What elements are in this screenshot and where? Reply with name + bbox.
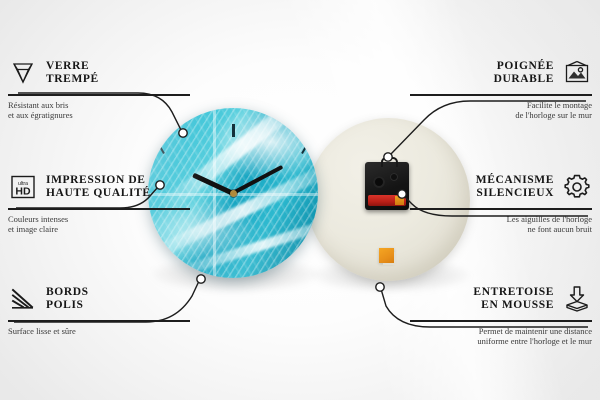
feature-title: VERRE TREMPÉ [46,60,99,86]
feature-header: POIGNÉE DURABLE [410,56,592,90]
feature-title: POIGNÉE DURABLE [494,60,554,86]
feature-description: Couleurs intenses et image claire [8,214,190,235]
feature-header: MÉCANISME SILENCIEUX [410,170,592,204]
divider [410,208,592,210]
feature-title: MÉCANISME SILENCIEUX [476,174,554,200]
feature-header: ENTRETOISE EN MOUSSE [410,282,592,316]
hanging-frame-icon [562,58,592,88]
divider [8,208,190,210]
battery [368,195,406,206]
feature-header: ultra HD IMPRESSION DE HAUTE QUALITÉ [8,170,190,204]
feature-description: Permet de maintenir une distance uniform… [410,326,592,347]
svg-text:HD: HD [15,186,31,198]
feature-impression-haute-qualite[interactable]: ultra HD IMPRESSION DE HAUTE QUALITÉ Cou… [8,170,190,235]
feature-bords-polis[interactable]: BORDS POLIS Surface lisse et sûre [8,282,190,336]
feature-header: VERRE TREMPÉ [8,56,190,90]
feature-header: BORDS POLIS [8,282,190,316]
feature-poignee-durable[interactable]: POIGNÉE DURABLE Facilite le montage de l… [410,56,592,121]
mechanism-hanger-tab [381,157,398,167]
divider [8,320,190,322]
mechanism-dial-secondary [390,173,398,181]
feature-title: IMPRESSION DE HAUTE QUALITÉ [46,174,151,200]
battery-terminal [395,196,404,205]
feature-description: Les aiguilles de l'horloge ne font aucun… [410,214,592,235]
mechanism-dial [373,176,385,188]
clock-mechanism [365,162,409,210]
feature-description: Facilite le montage de l'horloge sur le … [410,100,592,121]
feature-verre-trempe[interactable]: VERRE TREMPÉ Résistant aux bris et aux é… [8,56,190,121]
polished-edges-icon [8,284,38,314]
divider [8,94,190,96]
feature-description: Résistant aux bris et aux égratignures [8,100,190,121]
gear-icon [562,172,592,202]
foam-spacer-icon [562,284,592,314]
foam-spacer-pad [379,248,394,263]
feature-title: BORDS POLIS [46,286,89,312]
divider [410,320,592,322]
ultra-hd-icon: ultra HD [8,172,38,202]
infographic-canvas: VERRE TREMPÉ Résistant aux bris et aux é… [0,0,600,400]
diamond-icon [8,58,38,88]
feature-title: ENTRETOISE EN MOUSSE [473,286,554,312]
feature-entretoise-en-mousse[interactable]: ENTRETOISE EN MOUSSE Permet de maintenir… [410,282,592,347]
feature-description: Surface lisse et sûre [8,326,190,337]
divider [410,94,592,96]
feature-mecanisme-silencieux[interactable]: MÉCANISME SILENCIEUX Les aiguilles de l'… [410,170,592,235]
